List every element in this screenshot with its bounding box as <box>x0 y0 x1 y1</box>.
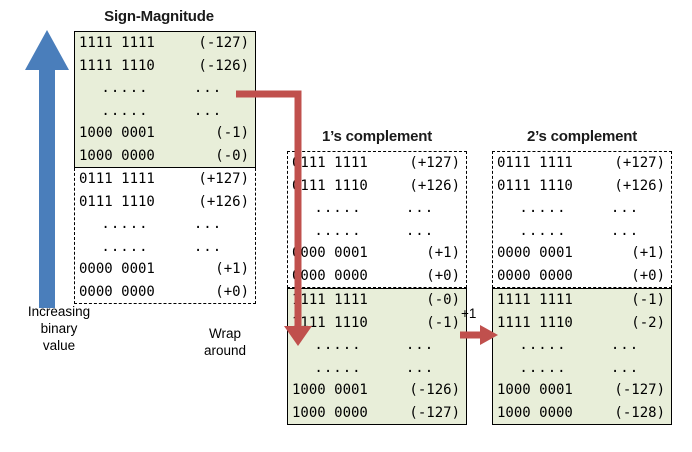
decimal-value: ... <box>589 334 667 357</box>
decimal-value: ... <box>589 357 667 380</box>
binary-value: ..... <box>79 77 171 100</box>
up-arrow-icon <box>22 28 72 310</box>
table-row: 1000 0000(-0) <box>75 145 255 168</box>
wrap-around-arrow-icon <box>236 88 316 346</box>
table-row: 1000 0000(-128) <box>493 402 671 425</box>
binary-value: 1111 1111 <box>497 289 589 312</box>
binary-value: 0000 0001 <box>79 258 171 281</box>
decimal-value: ... <box>384 334 462 357</box>
table-row: 1000 0000(-127) <box>288 402 466 425</box>
table-row: ........ <box>75 236 255 259</box>
decimal-value: (-1) <box>384 312 462 335</box>
plus-one-arrow-icon <box>460 322 500 348</box>
binary-value: 0111 1111 <box>79 168 171 191</box>
binary-value: 0111 1110 <box>497 175 589 198</box>
wrap-around-label: Wrap around <box>191 325 259 359</box>
binary-value: 1000 0000 <box>497 402 589 425</box>
decimal-value: (+126) <box>384 175 462 198</box>
table-row: 0000 0001(+1) <box>493 242 671 265</box>
table-title-twos-complement: 2’s complement <box>492 128 672 145</box>
binary-value: 1000 0000 <box>292 402 384 425</box>
table-row: 0111 1111(+127) <box>75 168 255 191</box>
decimal-value: (-126) <box>384 379 462 402</box>
table-row: 1000 0001(-126) <box>288 379 466 402</box>
table-segment-positive: 0111 1111(+127)0111 1110(+126)..........… <box>74 168 256 304</box>
decimal-value: (-126) <box>171 55 251 78</box>
decimal-value: (-128) <box>589 402 667 425</box>
table-row: 0000 0000(+0) <box>75 281 255 304</box>
table-row: 0111 1111(+127) <box>493 152 671 175</box>
table-sign-magnitude: 1111 1111(-127)1111 1110(-126)..........… <box>74 31 256 304</box>
table-segment-negative: 1111 1111(-127)1111 1110(-126)..........… <box>74 31 256 168</box>
table-twos-complement: 0111 1111(+127)0111 1110(+126)..........… <box>492 151 672 425</box>
binary-value: 0111 1110 <box>79 191 171 214</box>
decimal-value: (-127) <box>589 379 667 402</box>
binary-value: ..... <box>79 236 171 259</box>
binary-value: 1111 1110 <box>79 55 171 78</box>
table-row: 1111 1111(-1) <box>493 289 671 312</box>
binary-value: ..... <box>79 213 171 236</box>
table-row: ........ <box>493 334 671 357</box>
table-title-sign-magnitude: Sign-Magnitude <box>64 8 254 25</box>
binary-value: 1000 0000 <box>79 145 171 168</box>
binary-value: 1000 0001 <box>79 122 171 145</box>
table-row: 0111 1110(+126) <box>75 191 255 214</box>
table-row: ........ <box>288 357 466 380</box>
binary-value: 1111 1110 <box>497 312 589 335</box>
binary-value: 1000 0001 <box>497 379 589 402</box>
decimal-value: ... <box>384 197 462 220</box>
table-row: 0000 0001(+1) <box>75 258 255 281</box>
decimal-value: ... <box>589 220 667 243</box>
decimal-value: (-127) <box>171 32 251 55</box>
decimal-value: ... <box>384 357 462 380</box>
table-row: 1111 1110(-2) <box>493 312 671 335</box>
table-row: 1111 1110(-126) <box>75 55 255 78</box>
table-row: 1111 1111(-127) <box>75 32 255 55</box>
decimal-value: (+1) <box>384 242 462 265</box>
decimal-value: (+127) <box>589 152 667 175</box>
decimal-value: (-1) <box>589 289 667 312</box>
table-row: ........ <box>493 357 671 380</box>
decimal-value: (+1) <box>589 242 667 265</box>
table-row: ........ <box>75 100 255 123</box>
table-row: ........ <box>493 197 671 220</box>
decimal-value: (+127) <box>384 152 462 175</box>
increasing-binary-value-label: Increasing binary value <box>4 303 114 354</box>
decimal-value: ... <box>384 220 462 243</box>
binary-value: ..... <box>497 357 589 380</box>
table-row: ........ <box>75 77 255 100</box>
table-segment-negative: 1111 1111(-1)1111 1110(-2)..............… <box>492 288 672 425</box>
binary-value: ..... <box>497 334 589 357</box>
decimal-value: (+0) <box>384 265 462 288</box>
table-row: 1000 0001(-127) <box>493 379 671 402</box>
binary-value: 0000 0001 <box>497 242 589 265</box>
decimal-value: (+0) <box>589 265 667 288</box>
binary-value: 0111 1111 <box>497 152 589 175</box>
binary-value: 0000 0000 <box>497 265 589 288</box>
binary-value: ..... <box>292 357 384 380</box>
binary-value: ..... <box>497 197 589 220</box>
binary-value: ..... <box>497 220 589 243</box>
table-segment-positive: 0111 1111(+127)0111 1110(+126)..........… <box>492 151 672 288</box>
table-row: ........ <box>493 220 671 243</box>
decimal-value: (-2) <box>589 312 667 335</box>
table-row: 0111 1110(+126) <box>493 175 671 198</box>
binary-value: 1000 0001 <box>292 379 384 402</box>
table-row: ........ <box>75 213 255 236</box>
table-row: 1000 0001(-1) <box>75 122 255 145</box>
decimal-value: (-0) <box>384 289 462 312</box>
decimal-value: (-127) <box>384 402 462 425</box>
binary-value: 0000 0000 <box>79 281 171 304</box>
binary-value: 1111 1111 <box>79 32 171 55</box>
decimal-value: ... <box>589 197 667 220</box>
table-row: 0000 0000(+0) <box>493 265 671 288</box>
plus-one-label: +1 <box>461 306 476 321</box>
decimal-value: (+126) <box>589 175 667 198</box>
binary-value: ..... <box>79 100 171 123</box>
